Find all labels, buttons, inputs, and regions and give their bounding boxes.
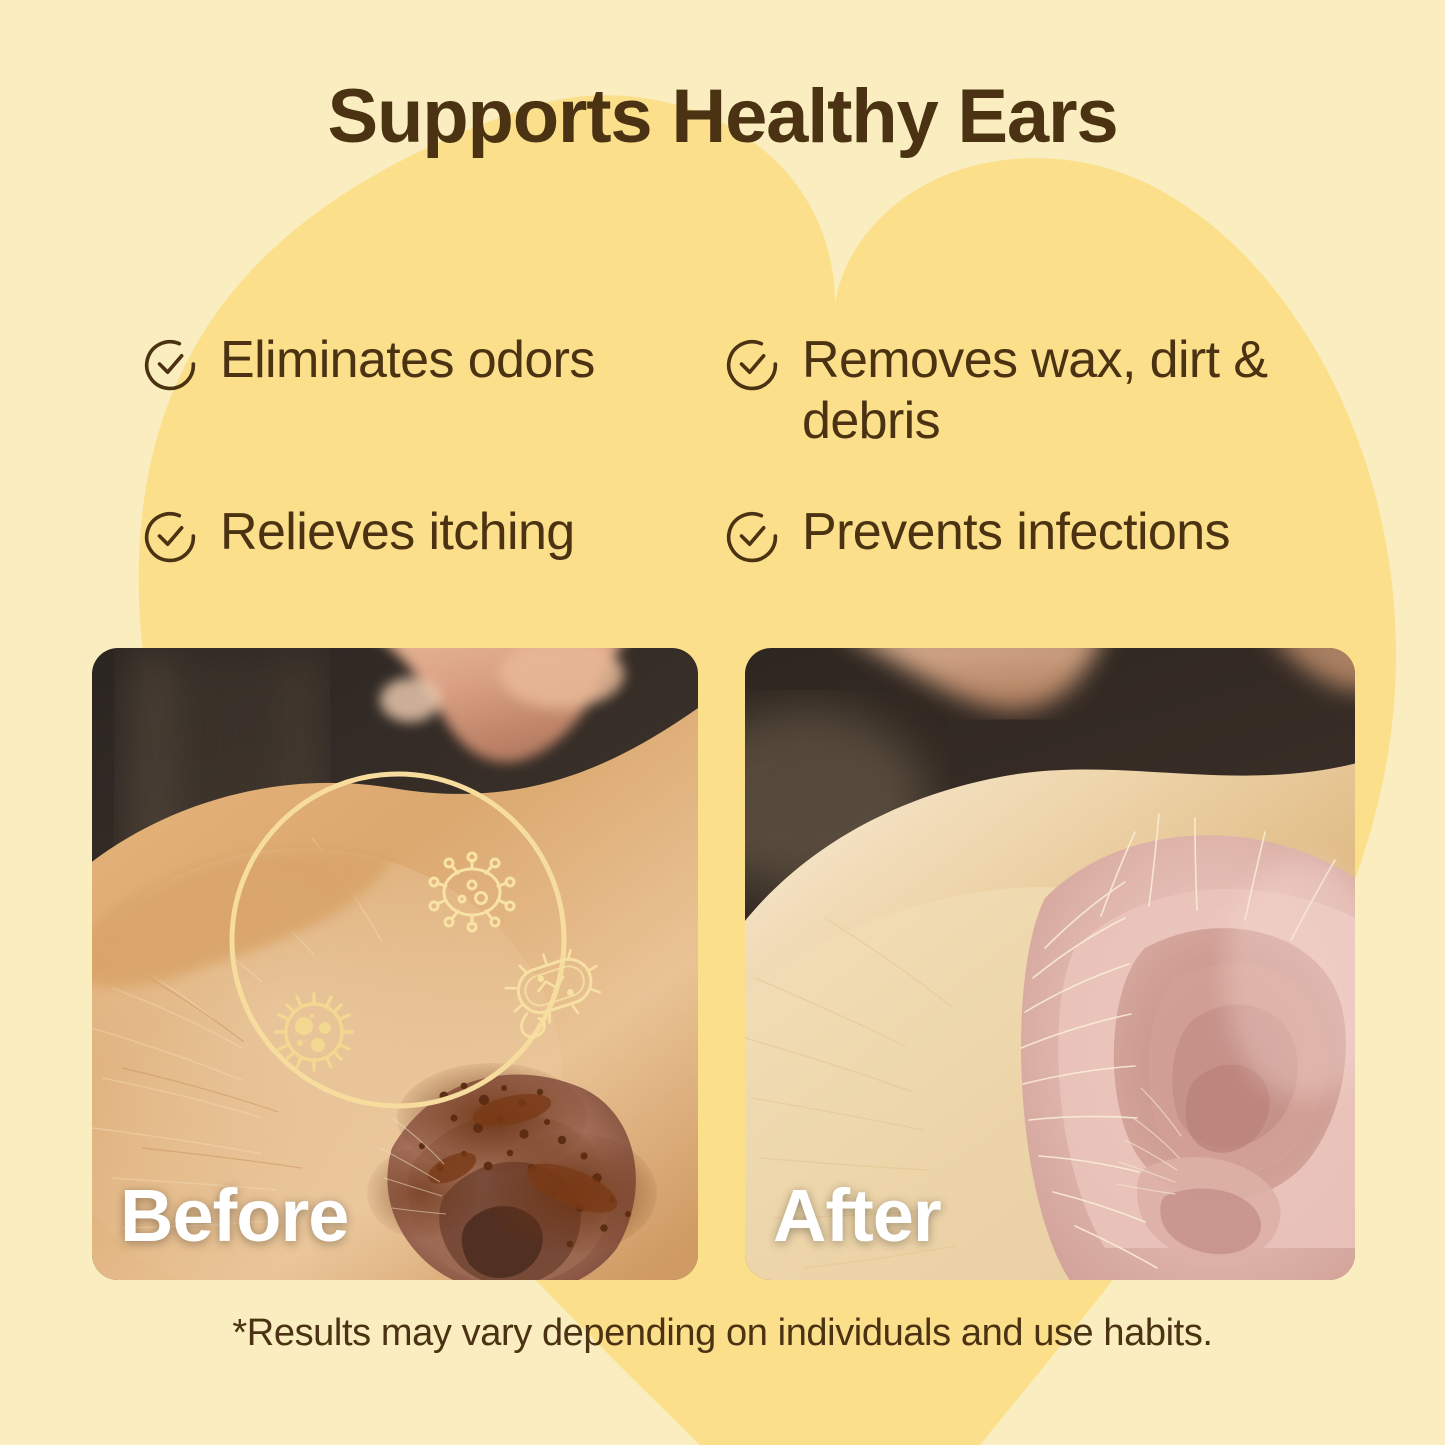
disclaimer-text: *Results may vary depending on individua… <box>0 1312 1445 1355</box>
after-label: After <box>773 1173 941 1258</box>
benefit-item-prevents-infections: Prevents infections <box>724 502 1312 564</box>
benefit-item-removes-wax-dirt-debris: Removes wax, dirt & debris <box>724 330 1312 502</box>
page-title: Supports Healthy Ears <box>0 78 1445 156</box>
benefit-item-eliminates-odors: Eliminates odors <box>142 330 724 502</box>
check-circle-icon <box>724 336 780 392</box>
benefit-label: Removes wax, dirt & debris <box>802 330 1312 453</box>
before-label: Before <box>120 1173 348 1258</box>
benefits-list: Eliminates odors Removes wax, dirt & deb… <box>142 330 1312 564</box>
check-circle-icon <box>142 508 198 564</box>
product-benefit-infographic: Supports Healthy Ears Eliminates odors R… <box>0 0 1445 1445</box>
before-photo-panel: Before <box>92 648 698 1280</box>
check-circle-icon <box>724 508 780 564</box>
after-photo-panel: After <box>745 648 1355 1280</box>
benefit-label: Relieves itching <box>220 502 575 563</box>
check-circle-icon <box>142 336 198 392</box>
benefit-label: Eliminates odors <box>220 330 595 391</box>
benefit-item-relieves-itching: Relieves itching <box>142 502 724 564</box>
benefit-label: Prevents infections <box>802 502 1230 563</box>
